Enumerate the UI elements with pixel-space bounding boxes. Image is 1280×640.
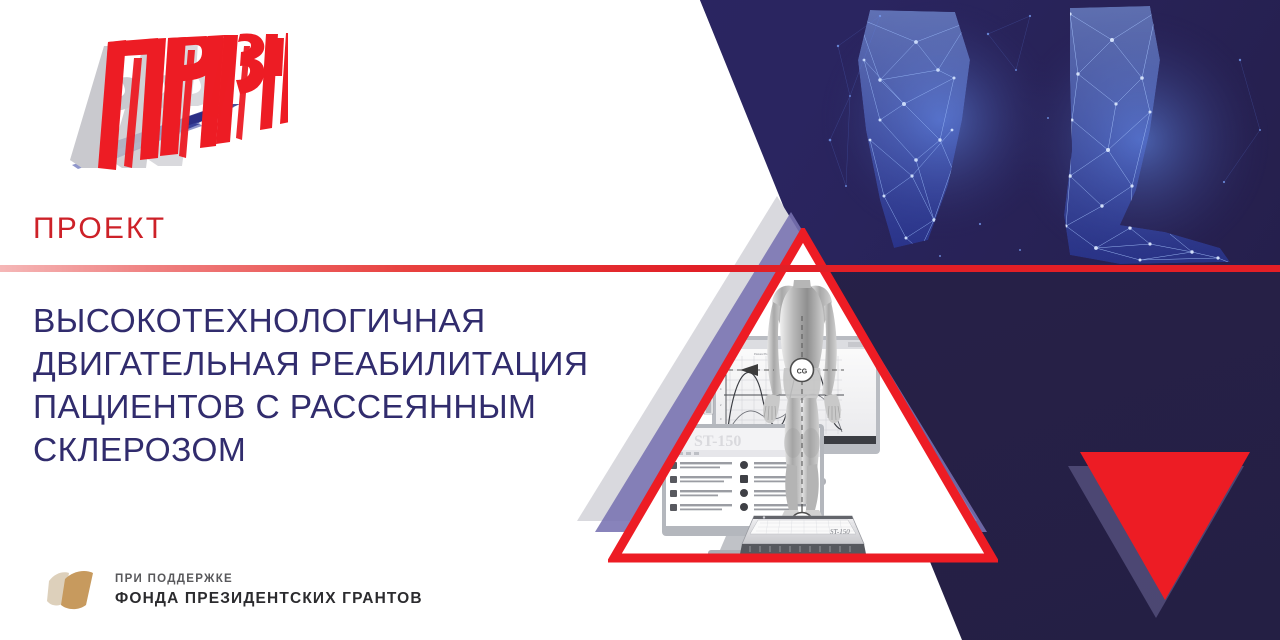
red-divider-rule (0, 265, 1280, 272)
kicker-label: ПРОЕКТ (33, 212, 166, 246)
page-title: ВЫСОКОТЕХНОЛОГИЧНАЯ ДВИГАТЕЛЬНАЯ РЕАБИЛИ… (33, 300, 673, 472)
inverted-triangle-red (1080, 452, 1250, 600)
footer-line-1: ПРИ ПОДДЕРЖКЕ (115, 574, 423, 586)
title-line-4: СКЛЕРОЗОМ (33, 429, 673, 472)
prizma-logo (48, 18, 288, 183)
poster-canvas: Posture Plot 864 20-2 024 6810 1214 (0, 0, 1280, 640)
title-line-3: ПАЦИЕНТОВ С РАССЕЯННЫМ (33, 386, 673, 429)
footer-support-block: ПРИ ПОДДЕРЖКЕ ФОНДА ПРЕЗИДЕНТСКИХ ГРАНТО… (45, 562, 423, 618)
footer-line-2: ФОНДА ПРЕЗИДЕНТСКИХ ГРАНТОВ (115, 591, 423, 607)
title-line-2: ДВИГАТЕЛЬНАЯ РЕАБИЛИТАЦИЯ (33, 343, 673, 386)
title-line-1: ВЫСОКОТЕХНОЛОГИЧНАЯ (33, 300, 673, 343)
footer-text: ПРИ ПОДДЕРЖКЕ ФОНДА ПРЕЗИДЕНТСКИХ ГРАНТО… (115, 574, 423, 607)
presidential-grants-fund-icon (45, 565, 101, 615)
